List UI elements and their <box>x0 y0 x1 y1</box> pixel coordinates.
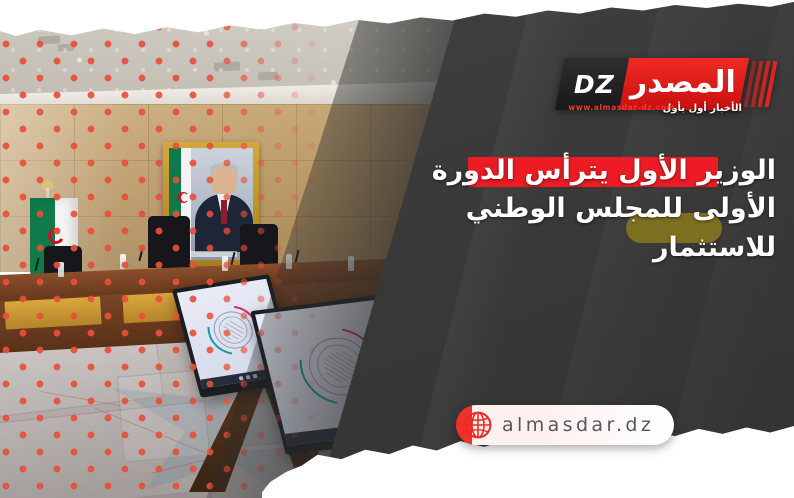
news-card: المصدر DZ الأخبار أول بأول www.almasdar-… <box>0 0 794 498</box>
headline-line-1: الوزير الأول يترأس الدورة <box>416 152 776 190</box>
logo-arabic-name: المصدر <box>630 68 736 101</box>
portrait-head <box>211 166 237 196</box>
site-url-badge[interactable]: almasdar.dz <box>456 405 674 445</box>
water-bottle <box>58 262 64 277</box>
headline: الوزير الأول يترأس الدورة الأولى للمجلس … <box>416 152 776 267</box>
water-bottle <box>286 254 292 269</box>
ceiling-vent <box>58 43 74 51</box>
national-emblem-icon <box>291 323 388 409</box>
screen-surface <box>255 297 428 445</box>
ceiling-vent <box>38 35 61 45</box>
water-bottle <box>222 256 228 271</box>
site-url-text: almasdar.dz <box>502 416 654 435</box>
logo-url: www.almasdar-dz.com <box>568 103 675 112</box>
delegate-chair <box>148 216 190 268</box>
portrait-tie <box>221 200 227 224</box>
headline-line-2: الأولى للمجلس الوطني <box>416 190 776 228</box>
logo-dz-label: DZ <box>574 72 615 97</box>
ceiling-vent <box>214 61 240 71</box>
ceiling-vent <box>258 71 278 80</box>
portrait-nameplate <box>185 251 237 257</box>
table-gold-panel <box>3 295 103 330</box>
water-bottle <box>348 256 354 271</box>
water-bottle <box>120 254 126 269</box>
headline-line-3: للاستثمار <box>416 229 776 267</box>
globe-icon <box>463 410 493 440</box>
delegate-chair <box>240 224 278 268</box>
site-logo[interactable]: المصدر DZ الأخبار أول بأول www.almasdar-… <box>560 58 776 110</box>
